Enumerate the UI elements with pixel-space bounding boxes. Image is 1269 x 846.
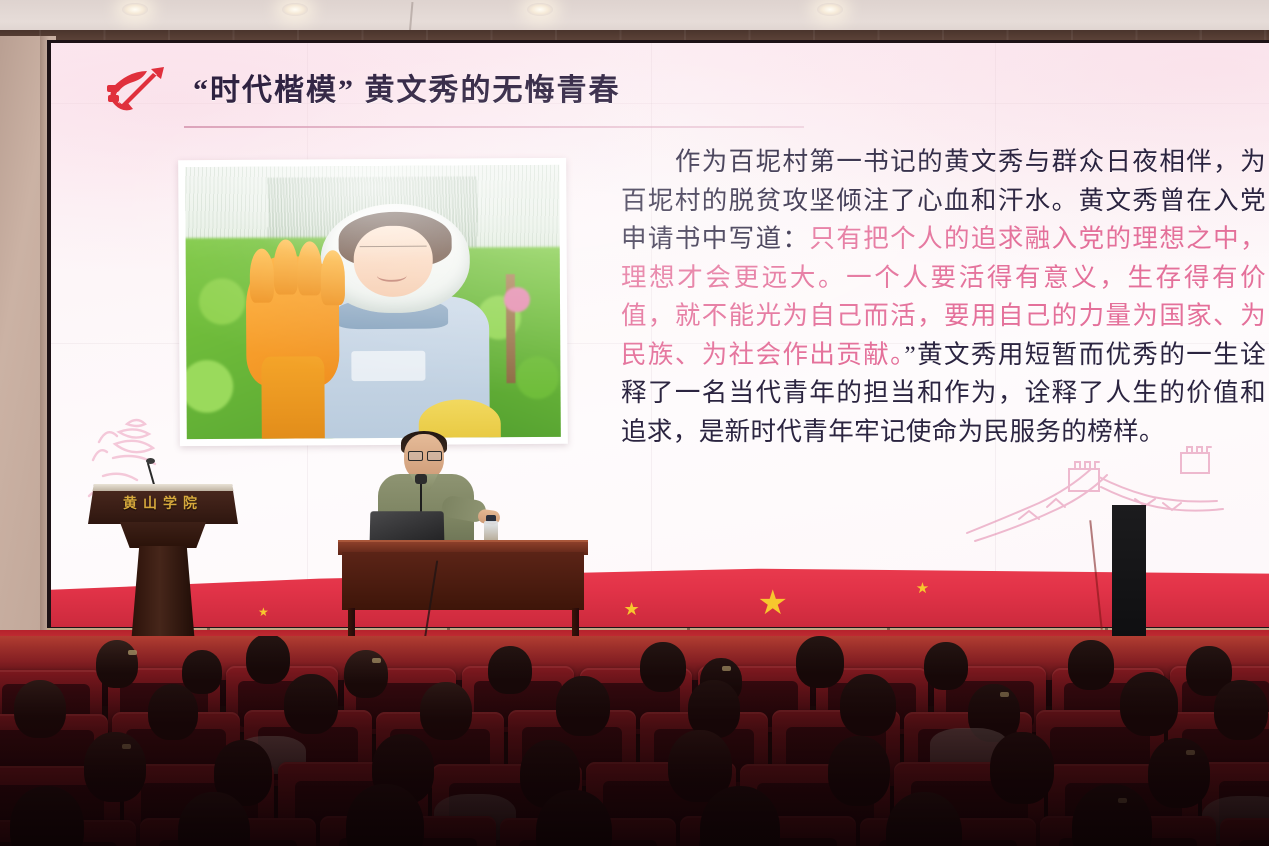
- audience-head: [1148, 738, 1210, 808]
- flag-star: ★: [916, 582, 929, 597]
- slide-photo-card: [178, 158, 568, 446]
- hair-clip: [128, 650, 137, 655]
- hair-clip: [1118, 798, 1127, 803]
- ceiling-downlight: [122, 3, 148, 16]
- audience-head: [1120, 672, 1178, 736]
- podium-venue-label: 黄山学院: [88, 493, 238, 513]
- photo-arm: [261, 357, 325, 439]
- flag-star: ★: [258, 606, 269, 618]
- audience-head: [488, 646, 532, 694]
- audience-head: [796, 636, 844, 688]
- audience-head: [420, 682, 472, 740]
- audience-head: [344, 650, 388, 698]
- podium-mic-head-icon: [146, 458, 155, 464]
- hair-clip: [1000, 692, 1009, 697]
- audience-head: [640, 642, 686, 692]
- photo-glove-finger: [320, 250, 345, 305]
- hair-clip: [1186, 750, 1195, 755]
- flag-star: ★: [757, 587, 787, 621]
- ceiling-downlight: [282, 3, 308, 16]
- speaker-cabinet: [1112, 505, 1146, 645]
- photo-glove-finger: [249, 248, 274, 303]
- photo-face: [354, 225, 433, 296]
- audience-head: [840, 674, 896, 736]
- audience-head: [990, 732, 1054, 804]
- title-underline: [184, 126, 804, 128]
- audience-head: [84, 732, 146, 802]
- hair-clip: [722, 666, 731, 671]
- hair-clip: [372, 658, 381, 663]
- audience-head: [828, 736, 890, 806]
- lectern-podium: 黄山学院: [88, 484, 238, 654]
- table-front-panel: [342, 552, 584, 610]
- audience-head: [924, 642, 968, 690]
- table-mic-head-icon: [415, 474, 427, 484]
- photo-glove-finger: [273, 240, 298, 295]
- great-wall-sketch-icon: [959, 437, 1249, 557]
- laptop-lid: [370, 511, 445, 541]
- slide-title-row: “时代楷模” 黄文秀的无悔青春: [101, 56, 831, 118]
- photo-glasses: [360, 246, 427, 261]
- audience-head: [246, 636, 290, 684]
- presenter-glasses-icon: [408, 451, 440, 459]
- audience-head: [1214, 680, 1268, 740]
- ceiling-downlight: [527, 3, 553, 16]
- lecture-hall-photo: “时代楷模” 黄文秀的无悔青春: [0, 0, 1269, 846]
- cpc-hammer-sickle-icon: [101, 57, 177, 117]
- audience-head: [556, 676, 610, 736]
- slide-title: “时代楷模” 黄文秀的无悔青春: [193, 65, 621, 109]
- hair-clip: [122, 744, 131, 749]
- podium-neck: [114, 522, 212, 548]
- audience-head: [14, 680, 66, 738]
- audience-head: [284, 674, 338, 734]
- audience-head: [1068, 640, 1114, 690]
- audience-head: [182, 650, 222, 694]
- audience-head: [96, 640, 138, 688]
- podium-top-edge: [88, 484, 238, 491]
- photo-pink-blob: [504, 287, 530, 312]
- ceiling-downlight: [817, 3, 843, 16]
- flag-star: ★: [623, 600, 639, 618]
- audience-area: [0, 636, 1269, 846]
- slide-body-text: 作为百坭村第一书记的黄文秀与群众日夜相伴，为百坭村的脱贫攻坚倾注了心血和汗水。黄…: [621, 143, 1266, 451]
- audience-head: [148, 684, 198, 740]
- slide-photo: [185, 165, 561, 439]
- theater-seat: [1220, 818, 1269, 846]
- photo-suit-pocket: [351, 351, 426, 381]
